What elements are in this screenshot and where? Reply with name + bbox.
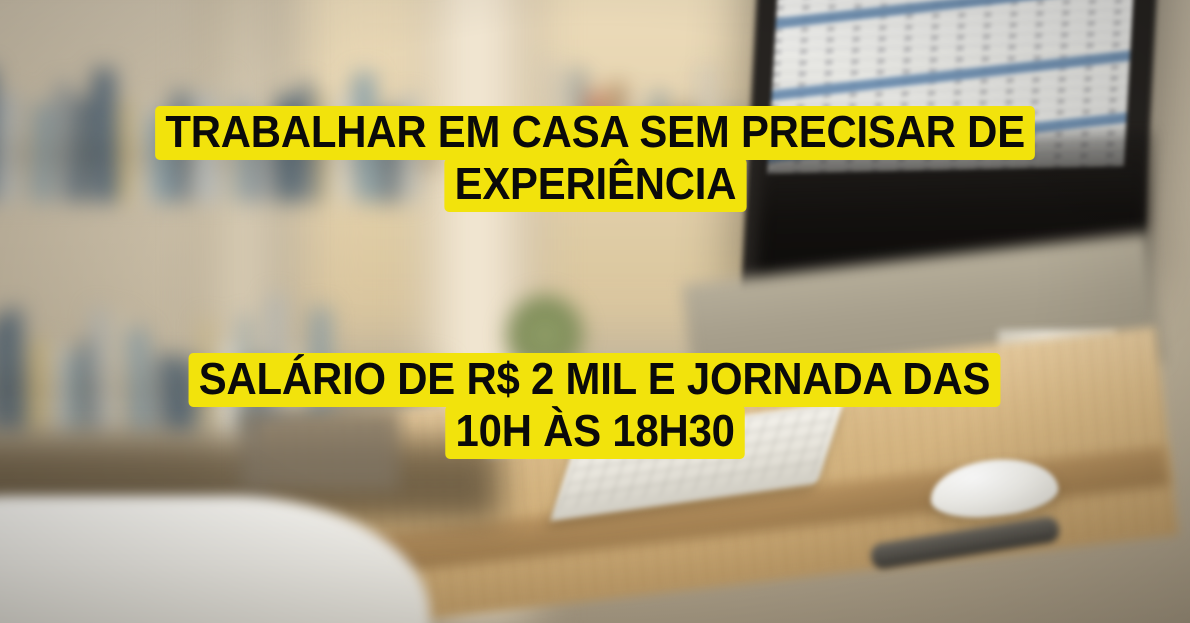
headline-row: EXPERIÊNCIA bbox=[0, 158, 1190, 212]
headline-secondary-line-1: SALÁRIO DE R$ 2 MIL E JORNADA DAS bbox=[189, 353, 1001, 407]
headline-row: TRABALHAR EM CASA SEM PRECISAR DE bbox=[0, 106, 1190, 160]
headline-primary-line-2: EXPERIÊNCIA bbox=[444, 158, 746, 212]
headline-row: 10H ÀS 18H30 bbox=[0, 405, 1190, 459]
headline-overlay: TRABALHAR EM CASA SEM PRECISAR DE EXPERI… bbox=[0, 0, 1190, 623]
headline-secondary-line-2: 10H ÀS 18H30 bbox=[445, 405, 745, 459]
job-offer-headline: TRABALHAR EM CASA SEM PRECISAR DE EXPERI… bbox=[0, 106, 1190, 212]
headline-primary-line-1: TRABALHAR EM CASA SEM PRECISAR DE bbox=[155, 106, 1035, 160]
salary-and-hours-headline: SALÁRIO DE R$ 2 MIL E JORNADA DAS 10H ÀS… bbox=[0, 353, 1190, 459]
headline-row: SALÁRIO DE R$ 2 MIL E JORNADA DAS bbox=[0, 353, 1190, 407]
poster-canvas: TRABALHAR EM CASA SEM PRECISAR DE EXPERI… bbox=[0, 0, 1190, 623]
